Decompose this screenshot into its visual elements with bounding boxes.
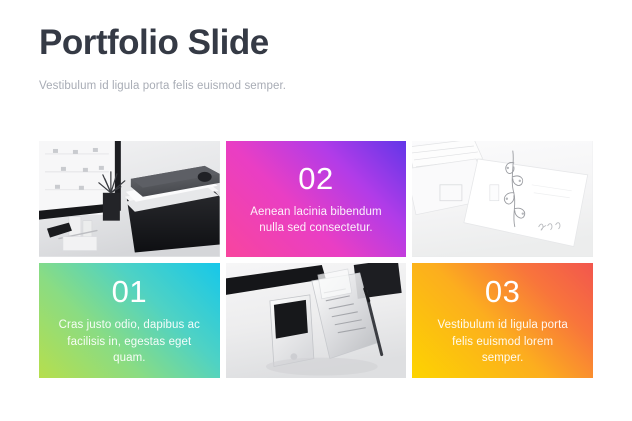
- card-03-text: Vestibulum id ligula porta felis euismod…: [430, 317, 575, 367]
- portfolio-slide: Portfolio Slide Vestibulum id ligula por…: [0, 0, 632, 421]
- card-01-text: Cras justo odio, dapibus ac facilisis in…: [57, 317, 202, 367]
- photo-desk-notebooks-image: [39, 141, 220, 257]
- card-03-number: 03: [485, 274, 520, 310]
- page-subtitle: Vestibulum id ligula porta felis euismod…: [39, 78, 599, 94]
- slide-header: Portfolio Slide Vestibulum id ligula por…: [39, 22, 599, 94]
- photo-phone-glassware[interactable]: [226, 263, 407, 379]
- card-02-text: Aenean lacinia bibendum nulla sed consec…: [244, 204, 389, 237]
- card-02-number: 02: [298, 161, 333, 197]
- card-02[interactable]: 02 Aenean lacinia bibendum nulla sed con…: [226, 141, 407, 257]
- photo-phone-glassware-image: [226, 263, 407, 379]
- portfolio-grid: 02 Aenean lacinia bibendum nulla sed con…: [39, 141, 593, 378]
- photo-desk-notebooks[interactable]: [39, 141, 220, 257]
- card-01-number: 01: [112, 274, 147, 310]
- card-03[interactable]: 03 Vestibulum id ligula porta felis euis…: [412, 263, 593, 379]
- card-01[interactable]: 01 Cras justo odio, dapibus ac facilisis…: [39, 263, 220, 379]
- photo-white-stationery-image: [412, 141, 593, 257]
- page-title: Portfolio Slide: [39, 22, 599, 64]
- photo-white-stationery[interactable]: [412, 141, 593, 257]
